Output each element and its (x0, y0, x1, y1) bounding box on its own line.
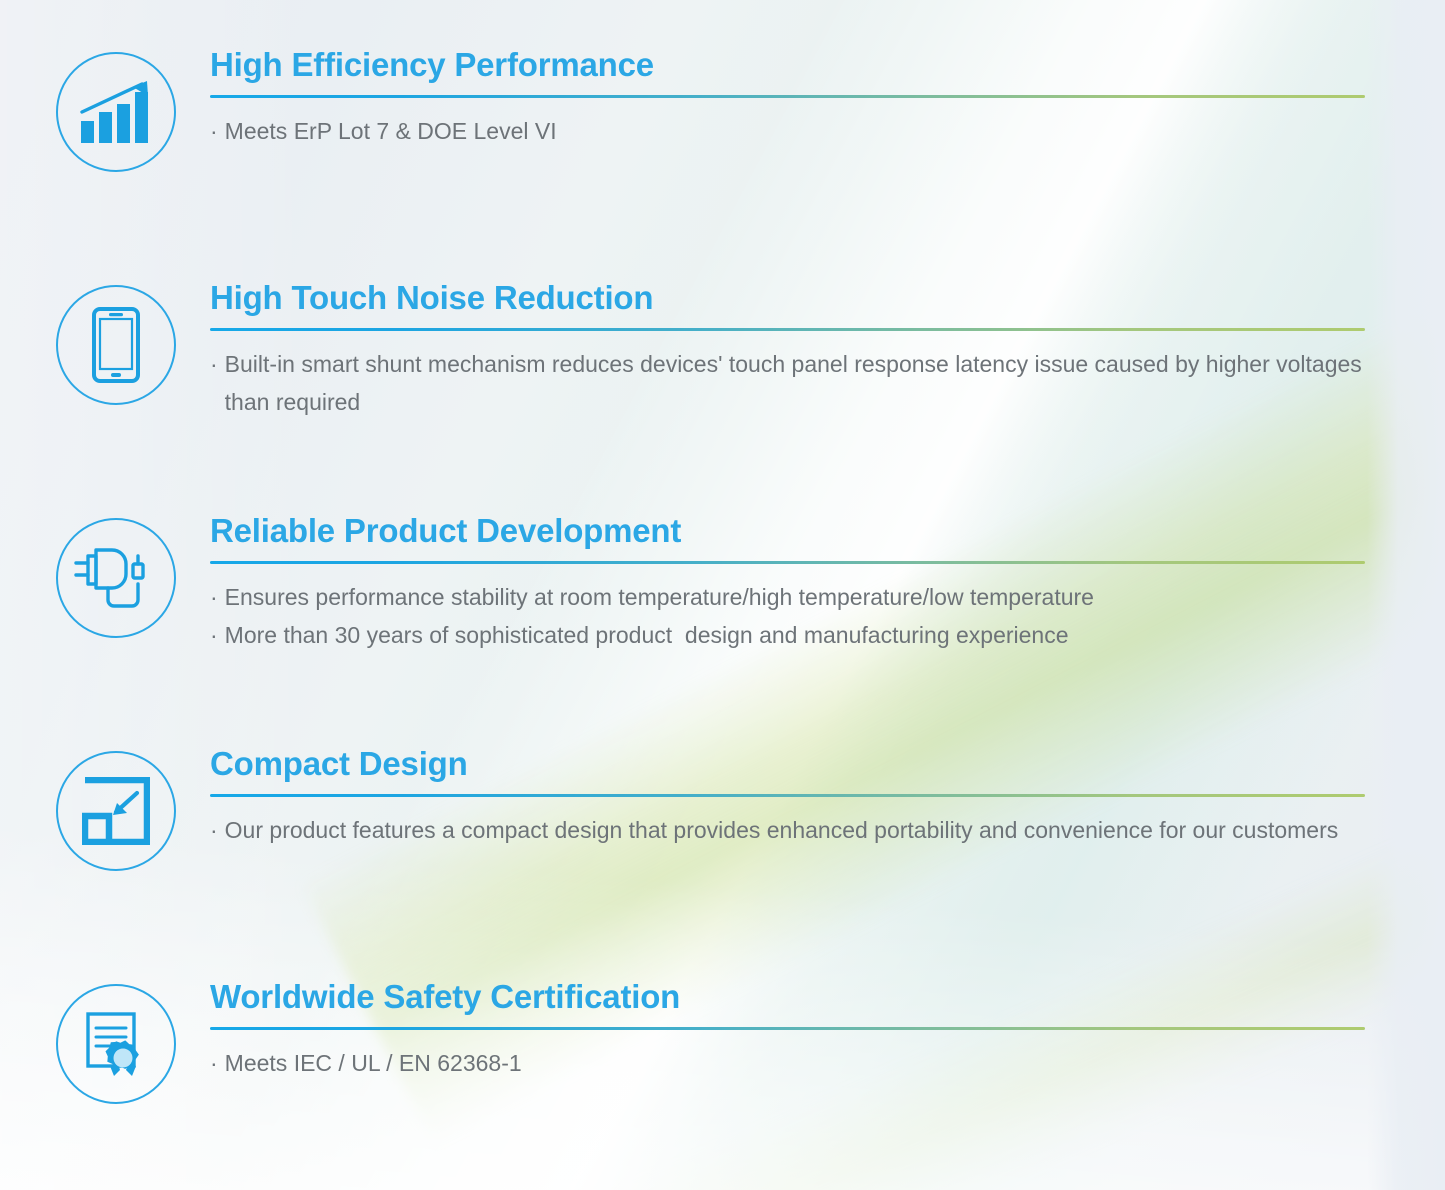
bullet-glyph: · (210, 1044, 218, 1083)
feature-item-worldwide-safety-certification: Worldwide Safety Certification · Meets I… (0, 980, 1445, 1104)
feature-title: High Touch Noise Reduction (210, 281, 1365, 316)
feature-bullets: · Ensures performance stability at room … (210, 578, 1365, 655)
list-item-text: Meets ErP Lot 7 & DOE Level VI (225, 112, 557, 151)
power-adapter-icon (56, 518, 176, 638)
smartphone-icon (56, 285, 176, 405)
list-item: · Ensures performance stability at room … (210, 578, 1365, 617)
feature-body: High Efficiency Performance · Meets ErP … (210, 48, 1445, 150)
bullet-glyph: · (210, 112, 218, 151)
feature-item-reliable-product-development: Reliable Product Development · Ensures p… (0, 514, 1445, 655)
feature-divider (210, 1027, 1365, 1030)
feature-body: Worldwide Safety Certification · Meets I… (210, 980, 1445, 1082)
feature-title: Worldwide Safety Certification (210, 980, 1365, 1015)
feature-bullets: · Our product features a compact design … (210, 811, 1365, 850)
feature-bullets: · Meets ErP Lot 7 & DOE Level VI (210, 112, 1365, 151)
feature-body: High Touch Noise Reduction · Built-in sm… (210, 281, 1445, 422)
bullet-glyph: · (210, 616, 218, 655)
feature-list: High Efficiency Performance · Meets ErP … (0, 0, 1445, 1190)
feature-divider (210, 95, 1365, 98)
feature-divider (210, 328, 1365, 331)
list-item: · Meets IEC / UL / EN 62368-1 (210, 1044, 1365, 1083)
list-item-text: Built-in smart shunt mechanism reduces d… (225, 345, 1365, 422)
bullet-glyph: · (210, 345, 218, 384)
list-item: · Our product features a compact design … (210, 811, 1365, 850)
feature-item-compact-design: Compact Design · Our product features a … (0, 747, 1445, 871)
list-item-text: Ensures performance stability at room te… (225, 578, 1094, 617)
list-item: · Built-in smart shunt mechanism reduces… (210, 345, 1365, 422)
feature-bullets: · Meets IEC / UL / EN 62368-1 (210, 1044, 1365, 1083)
feature-title: High Efficiency Performance (210, 48, 1365, 83)
feature-item-high-touch-noise-reduction: High Touch Noise Reduction · Built-in sm… (0, 281, 1445, 422)
feature-divider (210, 561, 1365, 564)
bullet-glyph: · (210, 578, 218, 617)
feature-body: Reliable Product Development · Ensures p… (210, 514, 1445, 655)
feature-body: Compact Design · Our product features a … (210, 747, 1445, 849)
bar-chart-growth-icon (56, 52, 176, 172)
certificate-seal-icon (56, 984, 176, 1104)
feature-divider (210, 794, 1365, 797)
bullet-glyph: · (210, 811, 218, 850)
feature-title: Compact Design (210, 747, 1365, 782)
list-item-text: Meets IEC / UL / EN 62368-1 (225, 1044, 522, 1083)
feature-highlights-page: High Efficiency Performance · Meets ErP … (0, 0, 1445, 1190)
list-item-text: More than 30 years of sophisticated prod… (225, 616, 1069, 655)
feature-title: Reliable Product Development (210, 514, 1365, 549)
list-item: · Meets ErP Lot 7 & DOE Level VI (210, 112, 1365, 151)
feature-bullets: · Built-in smart shunt mechanism reduces… (210, 345, 1365, 422)
list-item-text: Our product features a compact design th… (225, 811, 1339, 850)
list-item: · More than 30 years of sophisticated pr… (210, 616, 1365, 655)
compact-resize-icon (56, 751, 176, 871)
feature-item-high-efficiency-performance: High Efficiency Performance · Meets ErP … (0, 48, 1445, 172)
